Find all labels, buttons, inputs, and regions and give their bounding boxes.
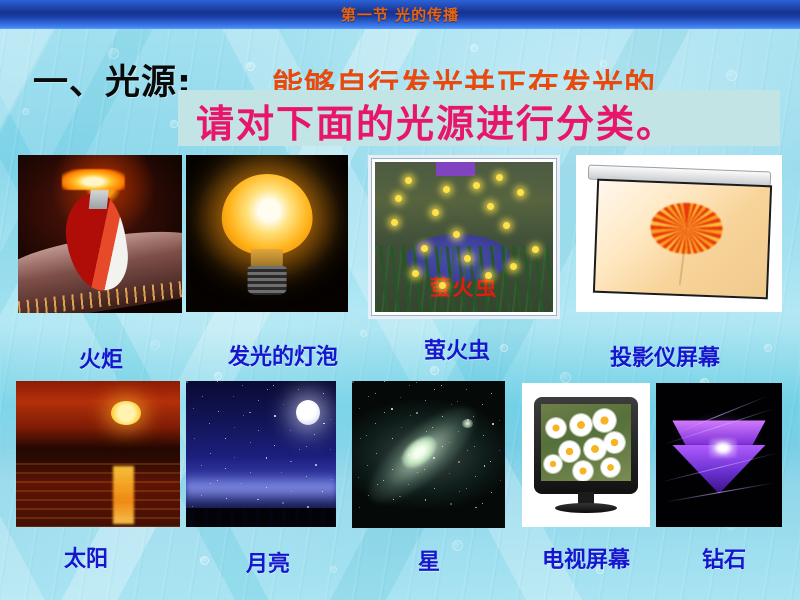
bubble-decoration bbox=[150, 340, 160, 350]
water-ripple-lines bbox=[16, 463, 180, 527]
star-speck bbox=[434, 488, 435, 489]
star-speck bbox=[368, 396, 369, 397]
star-speck bbox=[225, 438, 226, 439]
bubble-decoration bbox=[360, 330, 367, 337]
image-television[interactable] bbox=[522, 383, 650, 527]
star-speck bbox=[274, 415, 276, 417]
star-speck bbox=[352, 381, 354, 383]
firefly-glow bbox=[485, 272, 492, 279]
slide-title-bar: 第一节 光的传播 bbox=[0, 0, 800, 29]
star-speck bbox=[377, 484, 378, 485]
daisy-flower bbox=[593, 409, 616, 432]
daisy-flower bbox=[604, 432, 625, 453]
star-speck bbox=[375, 393, 376, 394]
slide-title-text: 第一节 光的传播 bbox=[0, 4, 800, 25]
image-projector-screen[interactable] bbox=[576, 155, 782, 312]
caption-projector-screen: 投影仪屏幕 bbox=[610, 340, 720, 372]
star-speck bbox=[258, 400, 259, 401]
star-speck bbox=[367, 465, 368, 466]
star-speck bbox=[274, 445, 275, 446]
star-speck bbox=[193, 408, 194, 409]
firefly-glow bbox=[473, 182, 480, 189]
star-speck bbox=[314, 434, 315, 435]
star-speck bbox=[425, 400, 426, 401]
image-torch[interactable] bbox=[18, 155, 182, 313]
star-speck bbox=[290, 461, 292, 463]
star-speck bbox=[202, 396, 203, 397]
diamond-sparkle bbox=[709, 438, 737, 458]
star-speck bbox=[475, 507, 477, 509]
bubble-decoration bbox=[430, 366, 439, 375]
star-speck bbox=[484, 465, 486, 467]
flower-stem bbox=[679, 252, 685, 285]
star-speck bbox=[266, 457, 268, 459]
star-speck bbox=[234, 457, 235, 458]
bubble-decoration bbox=[22, 108, 29, 115]
star-speck bbox=[458, 431, 459, 432]
star-speck bbox=[491, 393, 492, 394]
star-speck bbox=[442, 446, 443, 447]
bubble-decoration bbox=[470, 44, 478, 52]
star-speck bbox=[384, 412, 385, 413]
star-speck bbox=[218, 411, 219, 412]
star-speck bbox=[500, 480, 501, 481]
star-speck bbox=[298, 389, 299, 390]
bubble-decoration bbox=[214, 372, 222, 380]
star-speck bbox=[467, 450, 468, 451]
star-speck bbox=[393, 499, 394, 500]
firefly-glow bbox=[391, 219, 398, 226]
star-speck bbox=[410, 415, 411, 416]
firefly-glow bbox=[421, 245, 428, 252]
star-speck bbox=[451, 404, 452, 405]
star-speck bbox=[359, 408, 360, 409]
star-speck bbox=[490, 461, 491, 462]
star-speck bbox=[299, 449, 300, 450]
image-fireflies[interactable]: 萤火虫 bbox=[368, 155, 560, 319]
star-speck bbox=[314, 404, 315, 405]
firefly-scene: 萤火虫 bbox=[375, 162, 553, 312]
caption-sun: 太阳 bbox=[64, 541, 108, 573]
image-light-bulb[interactable] bbox=[186, 155, 348, 312]
bubble-decoration bbox=[500, 344, 508, 352]
star-speck bbox=[458, 461, 460, 463]
star-speck bbox=[359, 507, 360, 508]
daisy-flower bbox=[584, 438, 606, 460]
tv-stand-base bbox=[555, 503, 616, 513]
star-speck bbox=[290, 430, 291, 431]
firefly-sky-patch bbox=[436, 162, 475, 176]
firefly-glow bbox=[464, 255, 471, 262]
star-speck bbox=[375, 423, 376, 424]
star-speck bbox=[499, 450, 500, 451]
firefly-glow bbox=[432, 209, 439, 216]
star-speck bbox=[283, 404, 284, 405]
daisy-flower bbox=[559, 441, 580, 462]
flower-bloom bbox=[649, 201, 723, 254]
star-speck bbox=[323, 393, 324, 394]
image-sun-sunset[interactable] bbox=[16, 381, 180, 527]
star-speck bbox=[474, 446, 475, 447]
firefly-glow bbox=[395, 195, 402, 202]
moon-haze bbox=[186, 472, 336, 504]
star-speck bbox=[449, 473, 450, 474]
bulb-screw-base bbox=[248, 266, 287, 294]
star-speck bbox=[267, 389, 268, 390]
star-speck bbox=[217, 480, 218, 481]
caption-moon: 月亮 bbox=[246, 546, 290, 578]
caption-torch: 火炬 bbox=[79, 342, 123, 374]
moon-disc bbox=[296, 400, 320, 425]
star-speck bbox=[400, 397, 401, 398]
star-speck bbox=[242, 385, 243, 386]
star-speck bbox=[425, 499, 427, 501]
bubble-decoration bbox=[330, 566, 337, 573]
star-speck bbox=[416, 382, 417, 383]
star-speck bbox=[416, 412, 418, 414]
star-speck bbox=[291, 491, 292, 492]
bubble-decoration bbox=[764, 344, 772, 352]
star-speck bbox=[217, 381, 218, 382]
star-speck bbox=[366, 435, 367, 436]
star-speck bbox=[358, 477, 359, 478]
star-speck bbox=[307, 506, 309, 508]
caption-star: 星 bbox=[418, 544, 440, 576]
star-speck bbox=[210, 453, 211, 454]
image-diamond[interactable] bbox=[656, 383, 782, 527]
sun-disc bbox=[111, 401, 141, 424]
tv-screen bbox=[541, 404, 632, 480]
sun-reflection bbox=[113, 466, 134, 524]
star-speck bbox=[330, 449, 331, 450]
star-speck bbox=[234, 427, 235, 428]
star-speck bbox=[186, 381, 188, 383]
star-speck bbox=[408, 454, 410, 456]
bubble-decoration bbox=[726, 70, 737, 81]
bubble-decoration bbox=[170, 120, 178, 128]
star-speck bbox=[201, 465, 202, 466]
star-speck bbox=[441, 385, 442, 386]
star-speck bbox=[401, 427, 402, 428]
star-speck bbox=[323, 423, 325, 425]
section-heading-label: 一、光源: bbox=[33, 54, 192, 105]
daisy-flower bbox=[544, 455, 562, 473]
star-speck bbox=[482, 503, 483, 504]
star-speck bbox=[483, 435, 484, 436]
star-speck bbox=[434, 389, 435, 390]
firefly-inner-caption: 萤火虫 bbox=[375, 272, 553, 302]
firefly-glow bbox=[487, 203, 494, 210]
star-speck bbox=[250, 442, 251, 443]
daisy-flower bbox=[601, 458, 620, 477]
caption-diamond: 钻石 bbox=[702, 542, 746, 574]
star-speck bbox=[499, 420, 500, 421]
star-speck bbox=[315, 464, 317, 466]
star-speck bbox=[450, 503, 452, 505]
star-speck bbox=[491, 492, 492, 493]
daisy-flower bbox=[546, 418, 566, 438]
star-speck bbox=[492, 423, 494, 425]
star-speck bbox=[282, 502, 284, 504]
star-speck bbox=[376, 453, 377, 454]
star-speck bbox=[466, 389, 467, 390]
daisy-flower bbox=[573, 461, 593, 481]
star-speck bbox=[467, 419, 469, 421]
star-speck bbox=[330, 419, 331, 420]
star-speck bbox=[360, 438, 361, 439]
bulb-glass bbox=[222, 174, 313, 256]
star-speck bbox=[475, 476, 476, 477]
caption-firefly: 萤火虫 bbox=[424, 333, 490, 365]
question-text: 请对下面的光源进行分类。 bbox=[196, 93, 780, 148]
star-speck bbox=[459, 491, 460, 492]
image-moon[interactable] bbox=[186, 381, 336, 527]
bubble-decoration bbox=[246, 62, 255, 71]
star-speck bbox=[384, 381, 385, 382]
star-speck bbox=[225, 468, 226, 469]
star-speck bbox=[392, 438, 393, 439]
star-speck bbox=[482, 404, 483, 405]
firefly-glow bbox=[443, 186, 450, 193]
bubble-decoration bbox=[200, 556, 209, 565]
firefly-glow bbox=[532, 246, 539, 253]
star-speck bbox=[306, 446, 307, 447]
star-speck bbox=[426, 431, 427, 432]
moon-treeline bbox=[186, 508, 336, 527]
torch-flame bbox=[62, 169, 124, 190]
star-speck bbox=[192, 506, 193, 507]
firefly-glow bbox=[496, 174, 503, 181]
firefly-glow bbox=[510, 263, 517, 270]
star-speck bbox=[258, 430, 259, 431]
firefly-glow bbox=[503, 222, 510, 229]
firefly-glow bbox=[517, 189, 524, 196]
star-speck bbox=[322, 491, 323, 492]
star-speck bbox=[391, 408, 393, 410]
projector-screen-surface bbox=[592, 178, 771, 299]
star-speck bbox=[249, 412, 251, 414]
caption-tv-screen: 电视屏幕 bbox=[542, 542, 630, 574]
bubble-decoration bbox=[452, 540, 463, 551]
star-speck bbox=[243, 415, 244, 416]
star-speck bbox=[457, 401, 458, 402]
firefly-glow bbox=[405, 177, 412, 184]
star-speck bbox=[466, 488, 467, 489]
caption-light-bulb: 发光的灯泡 bbox=[228, 339, 338, 371]
bubble-decoration bbox=[560, 372, 571, 383]
star-speck bbox=[409, 385, 410, 386]
star-speck bbox=[233, 396, 234, 397]
star-speck bbox=[194, 438, 195, 439]
tv-body bbox=[534, 397, 639, 493]
question-overlay-box: 请对下面的光源进行分类。 bbox=[178, 90, 780, 146]
daisy-flower bbox=[570, 414, 592, 436]
presentation-slide: 第一节 光的传播 一、光源: 能够自行发光并正在发光的 请对下面的光源进行分类。… bbox=[0, 0, 800, 600]
star-speck bbox=[273, 385, 274, 386]
star-speck bbox=[209, 423, 210, 424]
image-star-galaxy[interactable] bbox=[352, 381, 505, 528]
star-speck bbox=[306, 476, 307, 477]
